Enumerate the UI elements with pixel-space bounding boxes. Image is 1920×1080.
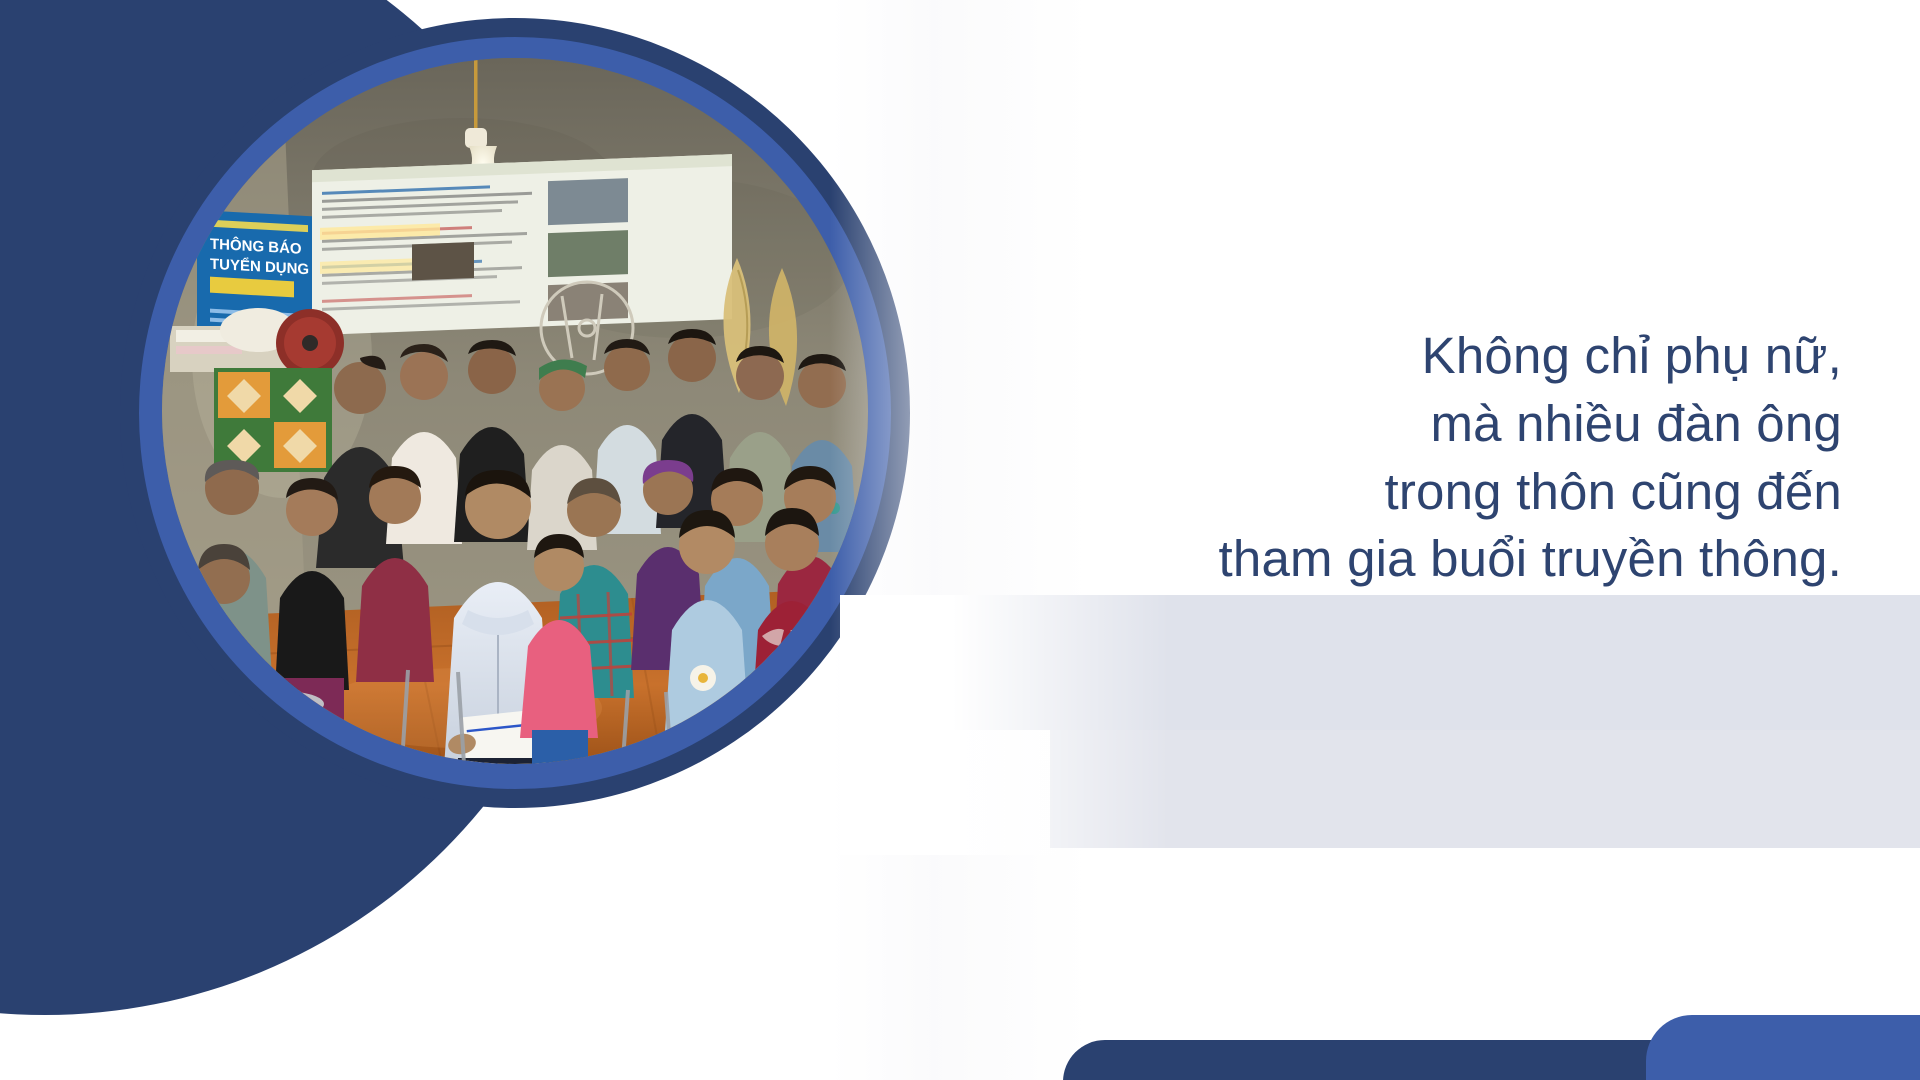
community-meeting-photo: THÔNG BÁO TUYỂN DỤNG <box>162 58 868 764</box>
gray-band-mask <box>840 595 1170 855</box>
gray-band-2-decoration <box>1050 730 1920 848</box>
slide-canvas: THÔNG BÁO TUYỂN DỤNG <box>0 0 1920 1080</box>
quote-text: Không chỉ phụ nữ, mà nhiều đàn ông trong… <box>882 322 1842 593</box>
corner-blue-bar <box>1646 1015 1920 1080</box>
